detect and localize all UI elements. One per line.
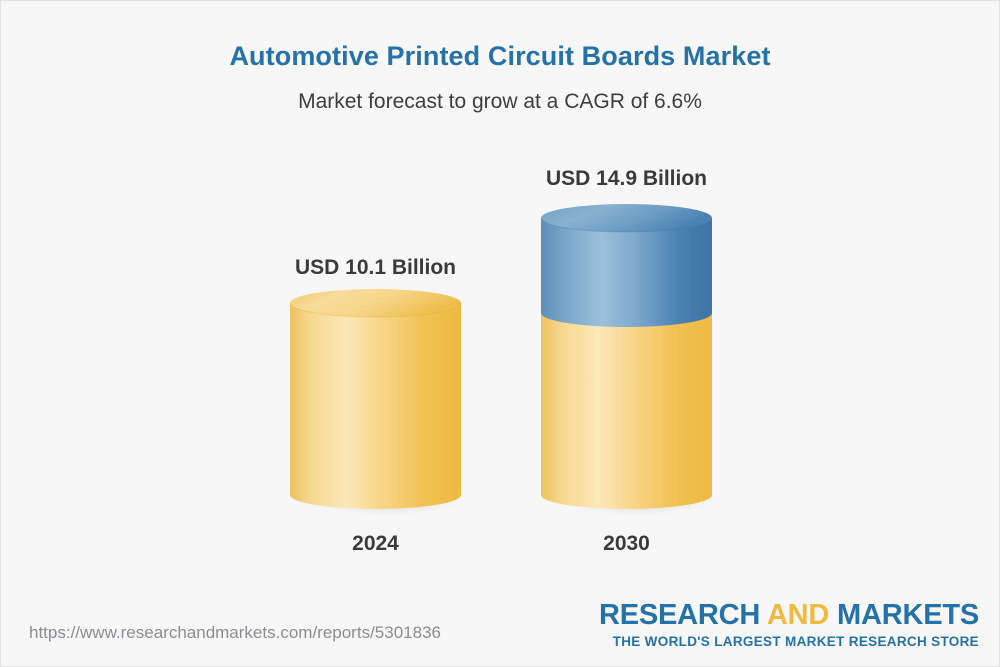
logo-word-research: RESEARCH — [599, 599, 767, 631]
plot-area: USD 10.1 Billion — [1, 1, 1000, 667]
chart-card: Automotive Printed Circuit Boards Market… — [0, 0, 1000, 667]
cylinder-2024[interactable] — [290, 289, 461, 524]
logo-word-and: AND — [767, 599, 829, 631]
logo-wordmark: RESEARCH AND MARKETS — [599, 601, 979, 630]
report-url[interactable]: https://www.researchandmarkets.com/repor… — [29, 623, 441, 643]
cylinder-2030[interactable] — [541, 204, 712, 524]
value-label-2024: USD 10.1 Billion — [250, 256, 501, 280]
logo-tagline: THE WORLD'S LARGEST MARKET RESEARCH STOR… — [599, 635, 979, 649]
logo-word-markets: MARKETS — [829, 599, 979, 631]
research-and-markets-logo[interactable]: RESEARCH AND MARKETS THE WORLD'S LARGEST… — [599, 601, 979, 649]
category-label-2030: 2030 — [501, 532, 752, 556]
cylinder-2024-graphic — [290, 289, 461, 524]
cylinder-2030-graphic — [541, 204, 712, 524]
category-label-2024: 2024 — [250, 532, 501, 556]
value-label-2030: USD 14.9 Billion — [501, 167, 752, 191]
